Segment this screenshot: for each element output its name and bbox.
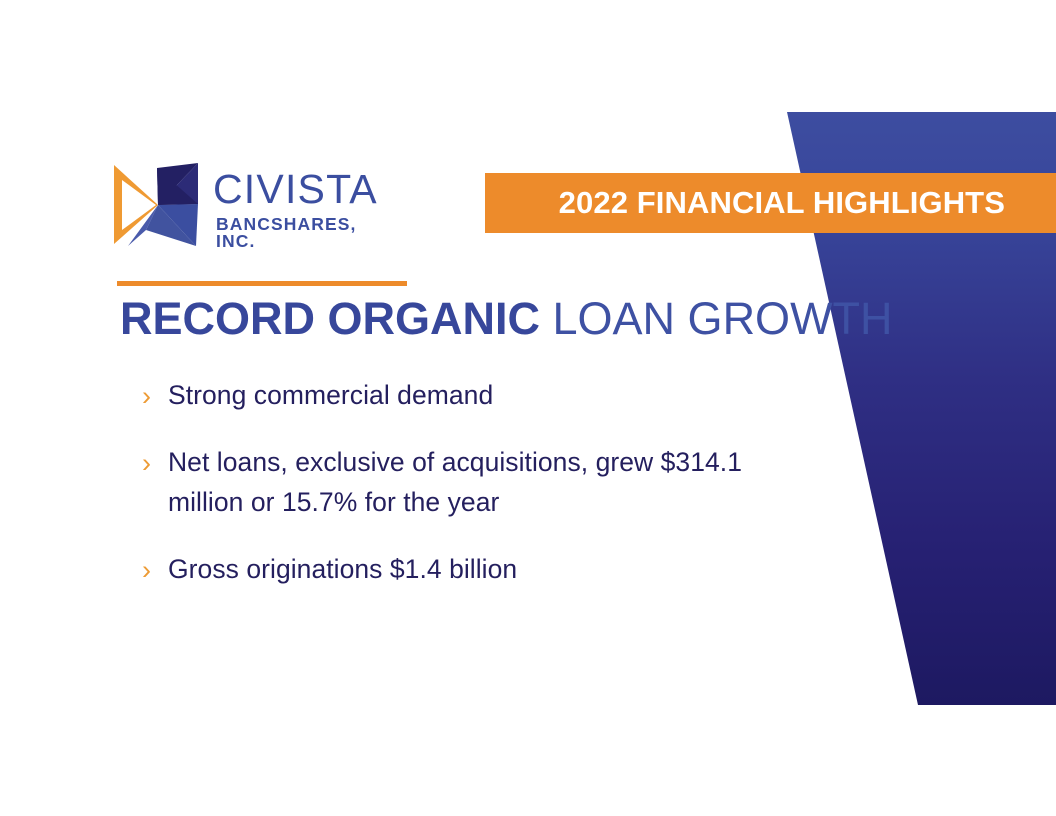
headline-accent-rule [117, 281, 407, 286]
list-item: › Net loans, exclusive of acquisitions, … [142, 443, 762, 521]
civista-four-point-star-icon [110, 160, 202, 250]
list-item-label: Net loans, exclusive of acquisitions, gr… [168, 443, 762, 521]
civista-wordmark: CIVISTA BANCSHARES, INC. [213, 160, 378, 251]
list-item: › Gross originations $1.4 billion [142, 550, 762, 589]
chevron-right-icon: › [142, 443, 168, 482]
page-title-bold: RECORD ORGANIC [120, 293, 540, 344]
list-item: › Strong commercial demand [142, 376, 762, 415]
page-title-light: LOAN GROWTH [540, 293, 893, 344]
chevron-right-icon: › [142, 550, 168, 589]
civista-subtitle: BANCSHARES, INC. [216, 216, 378, 251]
financial-highlights-banner: 2022 FINANCIAL HIGHLIGHTS [485, 173, 1056, 233]
list-item-label: Strong commercial demand [168, 376, 493, 415]
civista-logo: CIVISTA BANCSHARES, INC. [110, 160, 372, 252]
highlights-list: › Strong commercial demand › Net loans, … [142, 376, 762, 589]
civista-name: CIVISTA [213, 170, 378, 209]
banner-label: 2022 FINANCIAL HIGHLIGHTS [559, 185, 1005, 221]
list-item-label: Gross originations $1.4 billion [168, 550, 517, 589]
page-title: RECORD ORGANIC LOAN GROWTH [120, 294, 893, 344]
slide-canvas: CIVISTA BANCSHARES, INC. 2022 FINANCIAL … [0, 0, 1056, 816]
chevron-right-icon: › [142, 376, 168, 415]
